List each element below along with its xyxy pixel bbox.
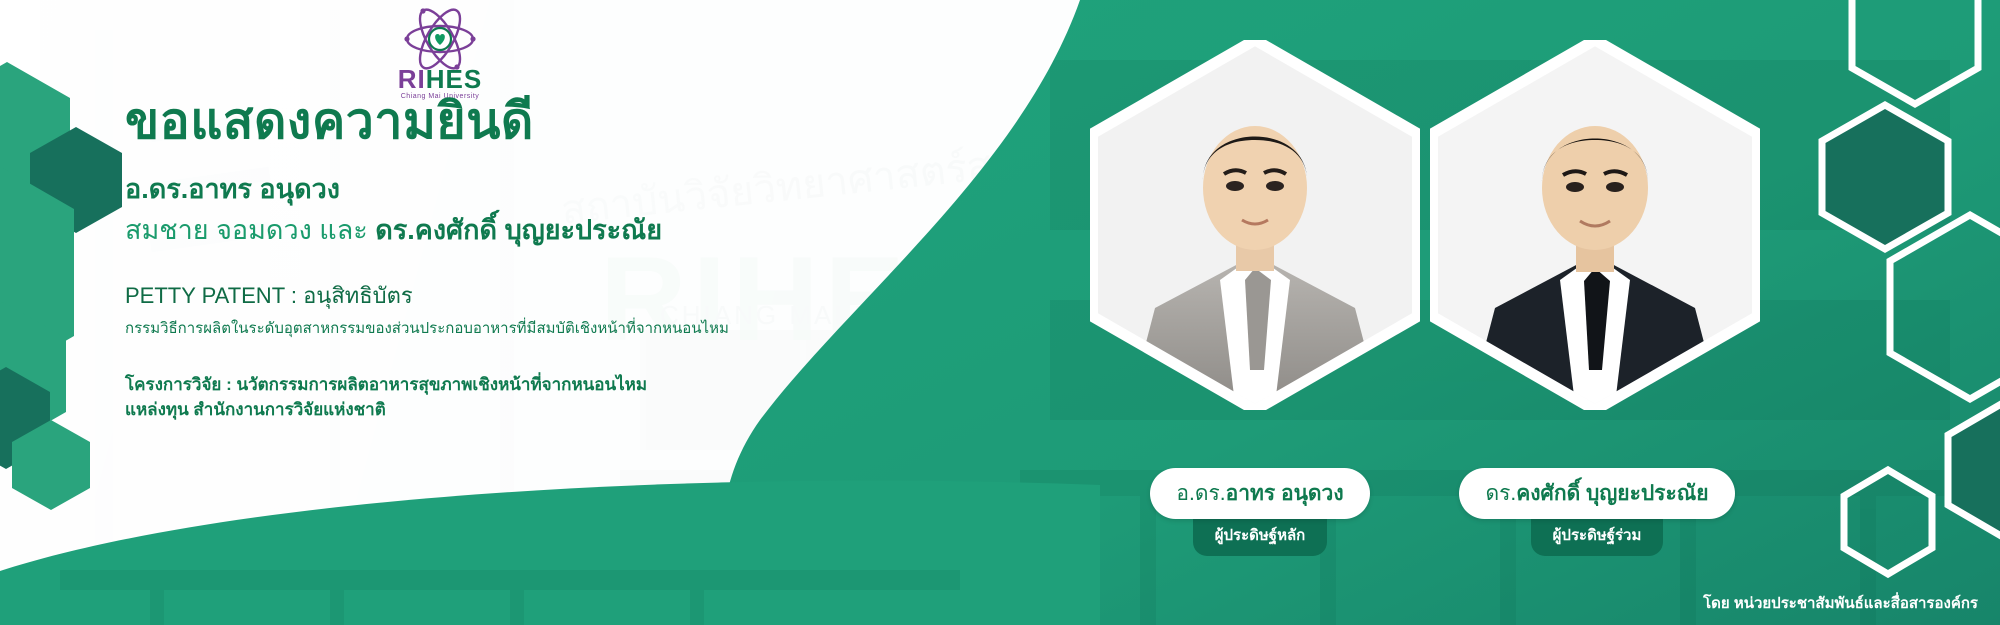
- funding-line: แหล่งทุน สำนักงานการวิจัยแห่งชาติ: [125, 398, 905, 423]
- logo-wordmark: RIHES: [370, 66, 510, 92]
- patent-title: PETTY PATENT : อนุสิทธิบัตร: [125, 282, 905, 311]
- footer-credit: โดย หน่วยประชาสัมพันธ์และสื่อสารองค์กร: [1703, 591, 1978, 615]
- badge-name-prefix-1: อ.ดร.: [1176, 482, 1225, 505]
- badge-name-person-2: ดร.คงศักดิ์ บุญยะประณัย: [1459, 468, 1734, 519]
- portrait-person-2: [1430, 40, 1760, 410]
- badge-name-person-1: อ.ดร.อาทร อนุดวง: [1150, 468, 1369, 519]
- rihes-logo: RIHES Chiang Mai University: [370, 8, 510, 100]
- badge-name-bold-1: อาทร อนุดวง: [1226, 482, 1344, 505]
- portrait-person-1: [1090, 40, 1420, 410]
- logo-word-hes: HES: [426, 64, 482, 94]
- inventor-name-line-2: สมชาย จอมดวง และ ดร.คงศักดิ์ บุญยะประณัย: [125, 213, 905, 248]
- page-title: ขอแสดงความยินดี: [125, 95, 905, 148]
- inventor-name-line-1: อ.ดร.อาทร อนุดวง: [125, 172, 905, 207]
- headline-text-block: ขอแสดงความยินดี อ.ดร.อาทร อนุดวง สมชาย จ…: [125, 95, 905, 423]
- patent-description: กรรมวิธีการผลิตในระดับอุตสาหกรรมของส่วนป…: [125, 318, 905, 339]
- badge-name-bold-2: คงศักดิ์ บุญยะประณัย: [1516, 482, 1708, 505]
- name-line-2-bold: ดร.คงศักดิ์ บุญยะประณัย: [375, 215, 662, 245]
- name-line-2-prefix: สมชาย จอมดวง และ: [125, 215, 375, 245]
- project-line: โครงการวิจัย : นวัตกรรมการผลิตอาหารสุขภา…: [125, 373, 905, 398]
- atom-heart-icon: [403, 8, 477, 70]
- congratulations-banner: สถาบันวิจัยวิทยาศาสตร์สุขภาพ RIHES CHIAN…: [0, 0, 2000, 625]
- logo-word-ri: RI: [398, 64, 426, 94]
- name-badge-person-2: ดร.คงศักดิ์ บุญยะประณัย ผู้ประดิษฐ์ร่วม: [1452, 468, 1742, 556]
- badge-name-prefix-2: ดร.: [1485, 482, 1516, 505]
- bottom-green-swoosh: [0, 475, 1100, 625]
- name-badge-person-1: อ.ดร.อาทร อนุดวง ผู้ประดิษฐ์หลัก: [1120, 468, 1400, 556]
